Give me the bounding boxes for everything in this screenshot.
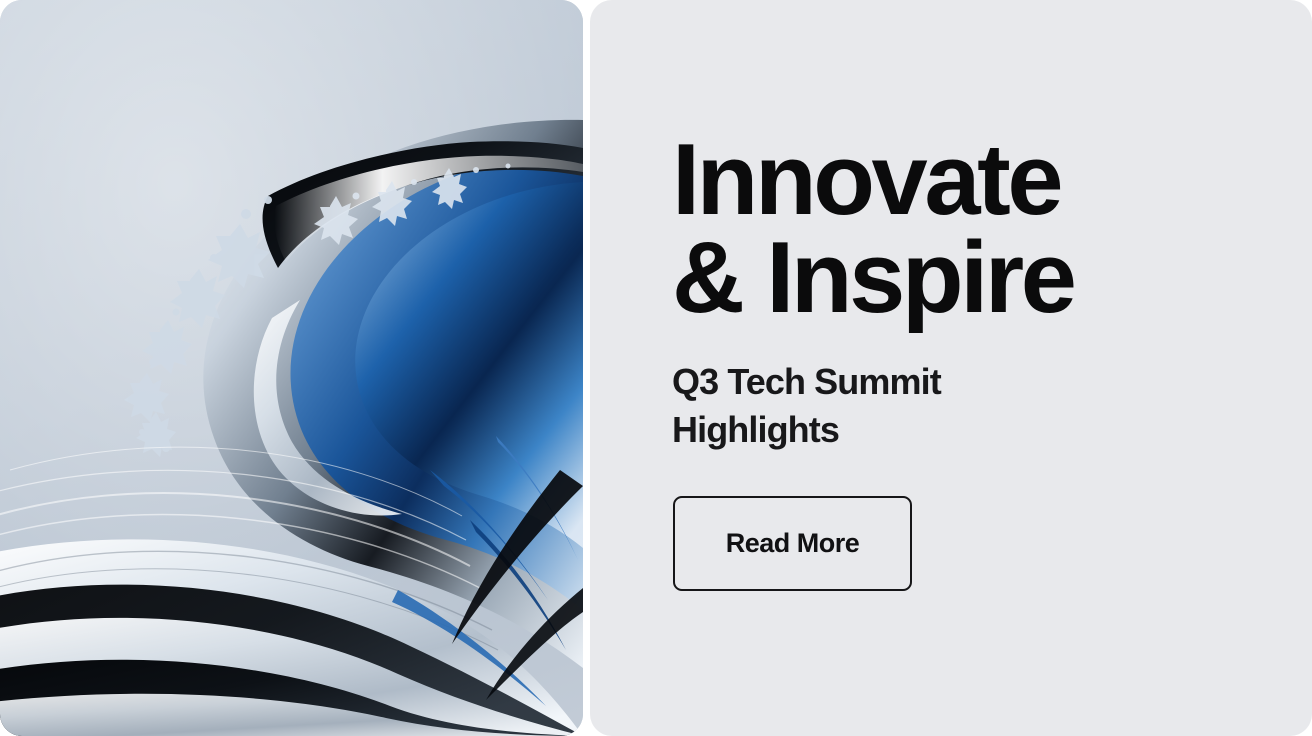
promo-banner: Innovate & Inspire Q3 Tech Summit Highli… [0, 0, 1312, 736]
wave-artwork-icon [0, 0, 583, 736]
panel-content: Innovate & Inspire Q3 Tech Summit Highli… [672, 0, 1232, 736]
wave-image-card [0, 0, 583, 736]
subtitle: Q3 Tech Summit Highlights [672, 358, 1172, 454]
page-title: Innovate & Inspire [672, 132, 1232, 328]
read-more-button[interactable]: Read More [673, 496, 912, 591]
text-panel: Innovate & Inspire Q3 Tech Summit Highli… [590, 0, 1312, 736]
